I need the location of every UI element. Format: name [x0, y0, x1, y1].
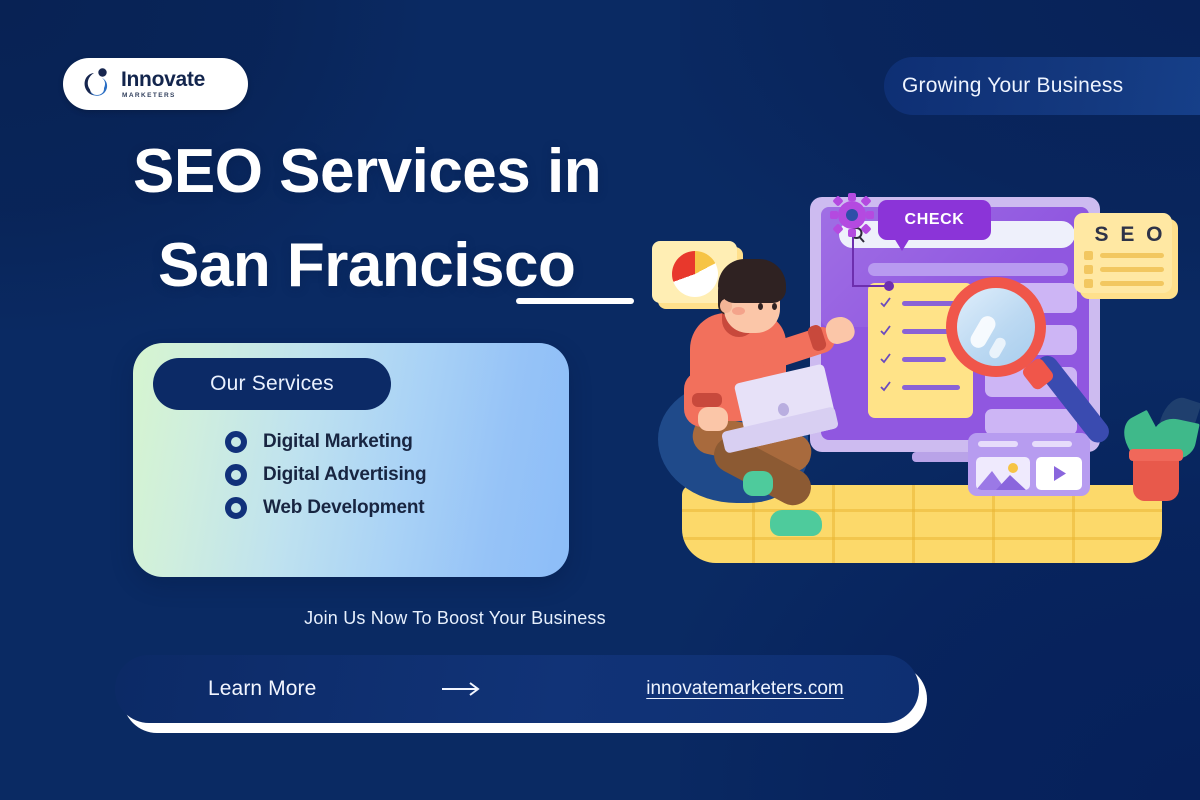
potted-plant-icon: [1133, 455, 1179, 501]
arrow-right-icon: [440, 681, 484, 697]
growing-business-label: Growing Your Business: [902, 74, 1123, 98]
list-item[interactable]: Web Development: [225, 497, 426, 519]
person-cuff: [692, 393, 722, 407]
person-eye: [772, 303, 777, 310]
bullet-ring-icon: [225, 464, 247, 486]
check-badge: CHECK: [878, 200, 991, 240]
our-services-pill: Our Services: [153, 358, 391, 410]
join-tagline: Join Us Now To Boost Your Business: [0, 608, 910, 629]
bullet-ring-icon: [225, 497, 247, 519]
person-shoe: [743, 471, 773, 496]
image-thumbnail-icon: [976, 457, 1030, 490]
plant-pot-rim: [1129, 449, 1183, 461]
screen-headline-bar: [868, 263, 1068, 276]
logo-name: Innovate: [121, 69, 205, 90]
our-services-label: Our Services: [210, 372, 334, 396]
list-item[interactable]: Digital Advertising: [225, 464, 426, 486]
seo-services-banner: Innovate MARKETERS Growing Your Business…: [0, 0, 1200, 800]
person-hair: [718, 259, 786, 303]
website-url-link[interactable]: innovatemarketers.com: [565, 678, 925, 700]
seo-card-rows: [1084, 251, 1168, 287]
our-services-card: Our Services Digital Marketing Digital A…: [133, 343, 569, 577]
headline-underline-accent: [516, 298, 634, 304]
service-label: Digital Advertising: [263, 464, 426, 486]
person-eye: [758, 303, 763, 310]
check-icon: [880, 297, 891, 308]
cta-bar[interactable]: Learn More innovatemarketers.com: [115, 655, 919, 723]
gear-icon: [830, 193, 874, 237]
innovate-swirl-icon: [80, 67, 114, 101]
cta-section: Learn More innovatemarketers.com: [115, 655, 927, 733]
bullet-ring-icon: [225, 431, 247, 453]
play-button-icon[interactable]: [1036, 457, 1082, 490]
person-shoe: [770, 510, 822, 536]
magnifying-glass-icon: [946, 277, 1046, 377]
check-badge-label: CHECK: [905, 211, 965, 229]
learn-more-button[interactable]: Learn More: [208, 677, 316, 701]
person-cheek: [732, 307, 745, 315]
check-icon: [880, 325, 891, 336]
growing-business-badge: Growing Your Business: [884, 57, 1200, 115]
brand-logo[interactable]: Innovate MARKETERS: [63, 58, 248, 110]
gear-connector-line: [852, 235, 854, 287]
gear-connector-dot: [884, 281, 894, 291]
service-label: Digital Marketing: [263, 431, 413, 453]
seo-card-title: S E O: [1088, 223, 1172, 247]
person-hand: [698, 407, 728, 431]
pie-chart-icon: [672, 251, 718, 297]
services-list: Digital Marketing Digital Advertising We…: [225, 431, 426, 519]
list-item[interactable]: Digital Marketing: [225, 431, 426, 453]
logo-subtitle: MARKETERS: [122, 93, 205, 100]
check-icon: [880, 353, 891, 364]
screen-row: [985, 409, 1077, 435]
service-label: Web Development: [263, 497, 424, 519]
seo-illustration: CHECK S E O: [640, 185, 1200, 575]
check-icon: [880, 381, 891, 392]
